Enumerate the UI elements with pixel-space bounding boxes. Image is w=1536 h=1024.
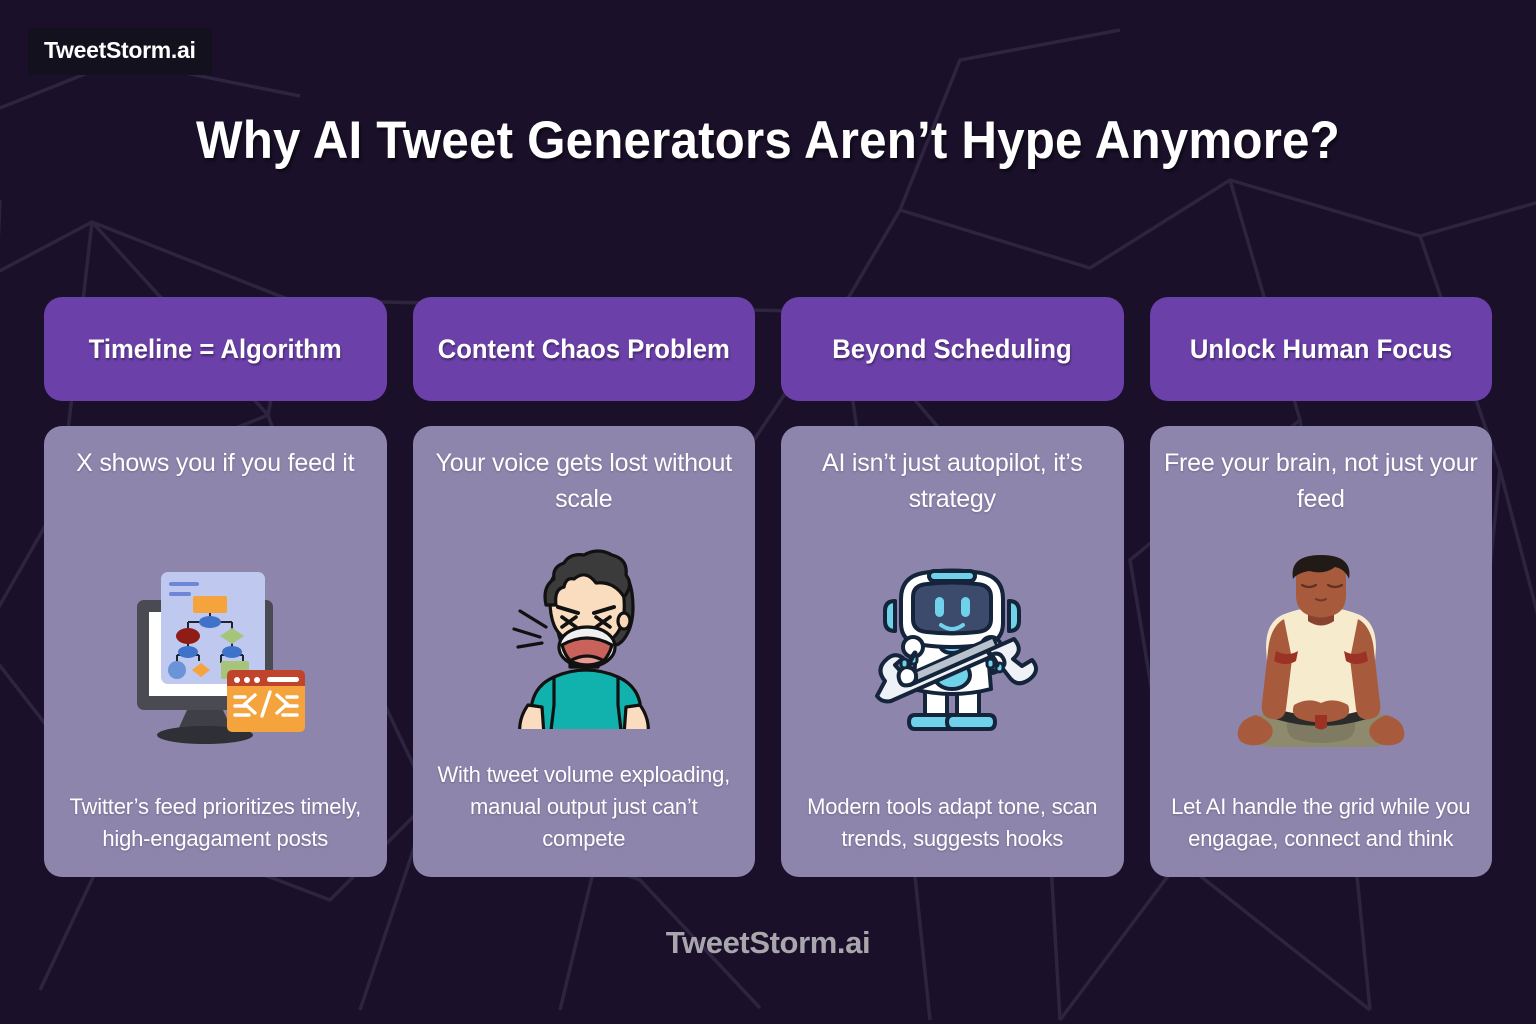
body-card-4: Free your brain, not just your feed [1150, 426, 1493, 877]
body-card-2: Your voice gets lost without scale [413, 426, 756, 877]
body-card-2-bottom-text: With tweet volume exploading, manual out… [427, 759, 742, 861]
brand-logo-text: TweetStorm.ai [44, 37, 196, 63]
header-card-1-label: Timeline = Algorithm [89, 330, 342, 368]
body-card-3: AI isn’t just autopilot, it’s strategy [781, 426, 1124, 877]
header-card-3-label: Beyond Scheduling [833, 330, 1072, 368]
infographic-page: TweetStorm.ai Why AI Tweet Generators Ar… [0, 0, 1536, 1024]
column-unlock-human-focus: Unlock Human Focus Free your brain, not … [1150, 297, 1493, 877]
monitor-flowchart-code-icon [115, 560, 315, 750]
body-card-2-top-text: Your voice gets lost without scale [427, 446, 742, 520]
body-card-1-top-text: X shows you if you feed it [76, 446, 354, 520]
illustration-4 [1164, 520, 1479, 791]
column-content-chaos: Content Chaos Problem Your voice gets lo… [413, 297, 756, 877]
body-card-4-top-text: Free your brain, not just your feed [1164, 446, 1479, 520]
header-card-4[interactable]: Unlock Human Focus [1150, 297, 1493, 401]
body-card-3-bottom-text: Modern tools adapt tone, scan trends, su… [795, 791, 1110, 861]
columns-container: Timeline = Algorithm X shows you if you … [44, 297, 1492, 877]
page-title: Why AI Tweet Generators Aren’t Hype Anym… [184, 105, 1352, 176]
header-card-2[interactable]: Content Chaos Problem [413, 297, 756, 401]
header-card-2-label: Content Chaos Problem [438, 330, 730, 368]
brand-logo-badge: TweetStorm.ai [28, 28, 212, 75]
illustration-2 [427, 520, 742, 759]
shouting-person-icon [484, 549, 684, 729]
body-card-4-bottom-text: Let AI handle the grid while you engagae… [1164, 791, 1479, 861]
body-card-1: X shows you if you feed it [44, 426, 387, 877]
header-card-4-label: Unlock Human Focus [1190, 330, 1452, 368]
body-card-1-bottom-text: Twitter’s feed prioritizes timely, high-… [58, 791, 373, 861]
meditating-person-icon [1216, 555, 1426, 755]
column-timeline-algorithm: Timeline = Algorithm X shows you if you … [44, 297, 387, 877]
column-beyond-scheduling: Beyond Scheduling AI isn’t just autopilo… [781, 297, 1124, 877]
header-card-1[interactable]: Timeline = Algorithm [44, 297, 387, 401]
illustration-3 [795, 520, 1110, 791]
illustration-1 [58, 520, 373, 791]
body-card-3-top-text: AI isn’t just autopilot, it’s strategy [795, 446, 1110, 520]
robot-with-wrench-icon [857, 563, 1047, 748]
header-card-3[interactable]: Beyond Scheduling [781, 297, 1124, 401]
footer-brand: TweetStorm.ai [0, 925, 1536, 961]
